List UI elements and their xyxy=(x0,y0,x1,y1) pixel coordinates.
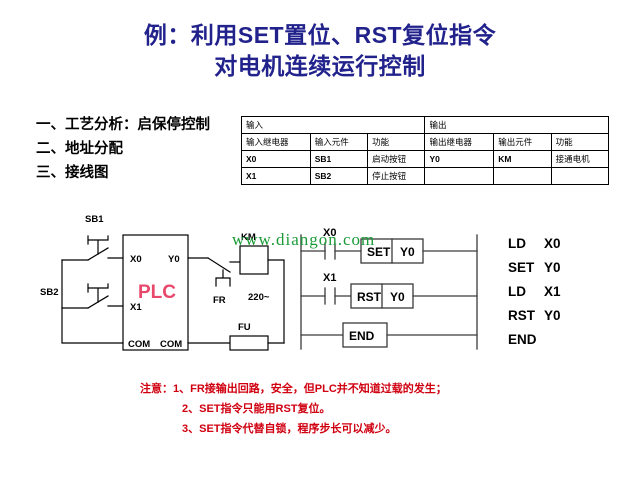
table-group-header-row: 输入 输出 xyxy=(242,117,609,134)
cell-output-function-0: 接通电机 xyxy=(551,151,608,168)
cell-input-function-0: 启动按钮 xyxy=(368,151,425,168)
terminal-label-x1: X1 xyxy=(130,302,142,313)
watermark: www.diangon.com xyxy=(232,230,375,250)
instruction-list: LDX0 SETY0 LDX1 RSTY0 END xyxy=(508,232,561,352)
terminal-label-com-left: COM xyxy=(128,339,150,350)
instruction-op-1: LD xyxy=(508,232,544,256)
component-label-fr: FR xyxy=(213,295,226,306)
instruction-op-4: RST xyxy=(508,304,544,328)
ladder-contact-label-x1: X1 xyxy=(323,272,336,284)
cell-input-device-0: SB1 xyxy=(310,151,367,168)
terminal-label-com-right: COM xyxy=(160,339,182,350)
cell-output-relay-1 xyxy=(425,168,494,185)
group-header-output: 输出 xyxy=(425,117,609,134)
instruction-op-5: END xyxy=(508,328,544,352)
component-label-sb1: SB1 xyxy=(85,214,104,225)
title-line-1: 例：利用SET置位、RST复位指令 xyxy=(144,22,496,48)
cell-output-function-1 xyxy=(551,168,608,185)
cell-input-relay-0: X0 xyxy=(242,151,311,168)
instruction-op-3: LD xyxy=(508,280,544,304)
outline-item-1: 一、工艺分析：启保停控制 xyxy=(36,113,236,137)
note-line-2: 2、SET指令只能用RST复位。 xyxy=(140,399,560,419)
instruction-op-2: SET xyxy=(508,256,544,280)
terminal-label-x0: X0 xyxy=(130,254,142,265)
column-header-output-function: 功能 xyxy=(551,134,608,151)
table-row: X0 SB1 启动按钮 Y0 KM 接通电机 xyxy=(242,151,609,168)
title-line-2: 对电机连续运行控制 xyxy=(0,51,640,82)
group-header-input: 输入 xyxy=(242,117,425,134)
instruction-line-2: SETY0 xyxy=(508,256,561,280)
cell-input-relay-1: X1 xyxy=(242,168,311,185)
instruction-line-3: LDX1 xyxy=(508,280,561,304)
plc-label: PLC xyxy=(138,282,176,303)
column-header-input-function: 功能 xyxy=(368,134,425,151)
instruction-operand-4: Y0 xyxy=(544,308,561,323)
fu-fuse xyxy=(230,336,268,350)
cell-input-device-1: SB2 xyxy=(310,168,367,185)
component-label-sb2: SB2 xyxy=(40,287,58,298)
outline-list: 一、工艺分析：启保停控制 二、地址分配 三、接线图 xyxy=(36,113,236,185)
column-header-output-device: 输出元件 xyxy=(494,134,551,151)
wiring-diagram: X0 X1 COM Y0 COM SB1 SB2 KM FR FU 220~ P… xyxy=(40,200,300,360)
component-label-supply: 220~ xyxy=(248,292,270,303)
table-row: X1 SB2 停止按钮 xyxy=(242,168,609,185)
ladder-instruction-rst: RST xyxy=(357,290,382,304)
notes-block: 注意：1、FR接输出回路，安全，但PLC并不知道过载的发生； 2、SET指令只能… xyxy=(140,379,560,439)
instruction-operand-1: X0 xyxy=(544,236,561,251)
ladder-operand-set: Y0 xyxy=(400,245,415,259)
table-column-header-row: 输入继电器 输入元件 功能 输出继电器 输出元件 功能 xyxy=(242,134,609,151)
cell-input-function-1: 停止按钮 xyxy=(368,168,425,185)
note-line-1: 注意：1、FR接输出回路，安全，但PLC并不知道过载的发生； xyxy=(140,379,560,399)
column-header-output-relay: 输出继电器 xyxy=(425,134,494,151)
outline-item-3: 三、接线图 xyxy=(36,161,236,185)
cell-output-device-0: KM xyxy=(494,151,551,168)
instruction-line-4: RSTY0 xyxy=(508,304,561,328)
column-header-input-device: 输入元件 xyxy=(310,134,367,151)
cell-output-relay-0: Y0 xyxy=(425,151,494,168)
ladder-end-block-label: END xyxy=(349,329,375,343)
terminal-label-y0: Y0 xyxy=(168,254,180,265)
component-label-fu: FU xyxy=(238,322,251,333)
note-line-3: 3、SET指令代替自锁，程序步长可以减少。 xyxy=(140,419,560,439)
io-allocation-table: 输入 输出 输入继电器 输入元件 功能 输出继电器 输出元件 功能 X0 SB1… xyxy=(241,116,609,185)
column-header-input-relay: 输入继电器 xyxy=(242,134,311,151)
instruction-line-1: LDX0 xyxy=(508,232,561,256)
km-coil xyxy=(240,246,268,274)
outline-item-2: 二、地址分配 xyxy=(36,137,236,161)
page-title: 例：利用SET置位、RST复位指令 对电机连续运行控制 xyxy=(0,20,640,82)
instruction-line-5: END xyxy=(508,328,561,352)
instruction-operand-2: Y0 xyxy=(544,260,561,275)
instruction-operand-3: X1 xyxy=(544,284,561,299)
cell-output-device-1 xyxy=(494,168,551,185)
ladder-operand-rst: Y0 xyxy=(390,290,405,304)
